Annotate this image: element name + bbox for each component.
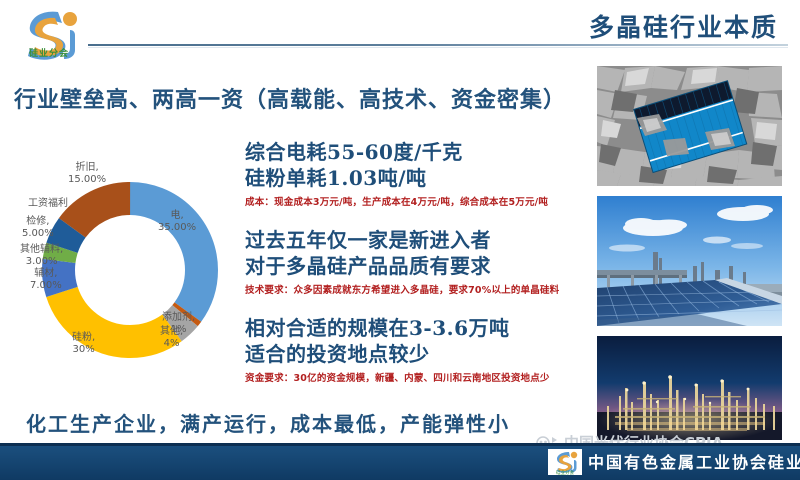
pie-label-tianjiaji-name: 添加剂, [162,312,195,323]
photo-solar-panels-blue-sky [597,196,782,326]
photo-chemical-plant-night [597,336,782,440]
photo1-image [597,66,782,186]
block2-note: 技术要求：众多因素成就东方希望进入多晶硅，要求70%以上的单晶硅料 [245,282,559,296]
block3-note: 资金要求：30亿的资金规模，新疆、内蒙、四川和云南地区投资地点少 [245,370,550,384]
pie-label-qitafuliao-name: 其他辅料, [20,244,63,255]
block1-line1: 综合电耗55-60度/千克 [245,140,548,166]
pie-label-guifen: 硅粉, 30% [72,332,95,355]
summary-line: 化工生产企业，满产运行，成本最低，产能弹性小 [26,408,510,437]
pie-label-qita-pct: 4% [164,338,180,349]
content-block-entrants: 过去五年仅一家是新进入者 对于多晶硅产品品质有要求 技术要求：众多因素成就东方希… [245,228,559,296]
footer-text: 中国有色金属工业协会硅业分会 [588,449,800,473]
pie-label-jianxiu-name: 检修, [26,216,49,227]
photo2-image [597,196,782,326]
pie-label-qitafuliao: 其他辅料, 3.00% [20,244,63,267]
photo-silicon-wafer-on-rocks [597,66,782,186]
pie-label-gongzifuli-name: 工资福利 [28,198,68,209]
headline-text: 行业壁垒高、两高一资（高载能、高技术、资金密集） [14,82,566,114]
slide-root: 硅业分会 多晶硅行业本质 行业壁垒高、两高一资（高载能、高技术、资金密集） 综合… [0,0,800,480]
pie-label-fucai: 辅材, 7.00% [30,268,62,291]
pie-label-dian: 电, 35.00% [158,210,196,233]
photo3-image [597,336,782,440]
content-block-scale: 相对合适的规模在3-3.6万吨 适合的投资地点较少 资金要求：30亿的资金规模，… [245,316,550,384]
pie-label-jianxiu: 检修, 5.00% [22,216,54,239]
page-title: 多晶硅行业本质 [589,8,778,44]
header-divider-shadow [88,47,788,48]
pie-label-dian-pct: 35.00% [158,222,196,233]
block3-line2: 适合的投资地点较少 [245,342,550,368]
pie-label-zhejiu-name: 折旧, [75,162,98,173]
pie-label-zhejiu: 折旧, 15.00% [68,162,106,185]
pie-label-jianxiu-pct: 5.00% [22,228,54,239]
pie-label-qitafuliao-pct: 3.00% [26,256,58,267]
block1-line2: 硅粉单耗1.03吨/吨 [245,166,548,192]
pie-label-gongzifuli: 工资福利 [28,198,68,210]
block1-note: 成本：现金成本3万元/吨，生产成本在4万元/吨，综合成本在5万元/吨 [245,194,548,208]
pie-label-dian-name: 电, [170,210,183,221]
footer-logo-icon: 硅业分会 [548,449,582,475]
block2-line1: 过去五年仅一家是新进入者 [245,228,559,254]
pie-label-guifen-name: 硅粉, [72,332,95,343]
cost-structure-donut-chart: 电, 35.00% 硅粉, 30% 折旧, 15.00% 工资福利 检修, 5.… [20,160,240,380]
pie-label-fucai-name: 辅材, [34,268,57,279]
header-divider [88,44,788,46]
logo-caption: 硅业分会 [14,46,84,59]
block2-line2: 对于多晶硅产品品质有要求 [245,254,559,280]
pie-label-qita: 其他, 4% [160,326,183,349]
pie-label-zhejiu-pct: 15.00% [68,174,106,185]
pie-label-qita-name: 其他, [160,326,183,337]
block3-line1: 相对合适的规模在3-3.6万吨 [245,316,550,342]
pie-label-fucai-pct: 7.00% [30,280,62,291]
content-block-cost: 综合电耗55-60度/千克 硅粉单耗1.03吨/吨 成本：现金成本3万元/吨，生… [245,140,548,208]
pie-label-guifen-pct: 30% [72,344,94,355]
